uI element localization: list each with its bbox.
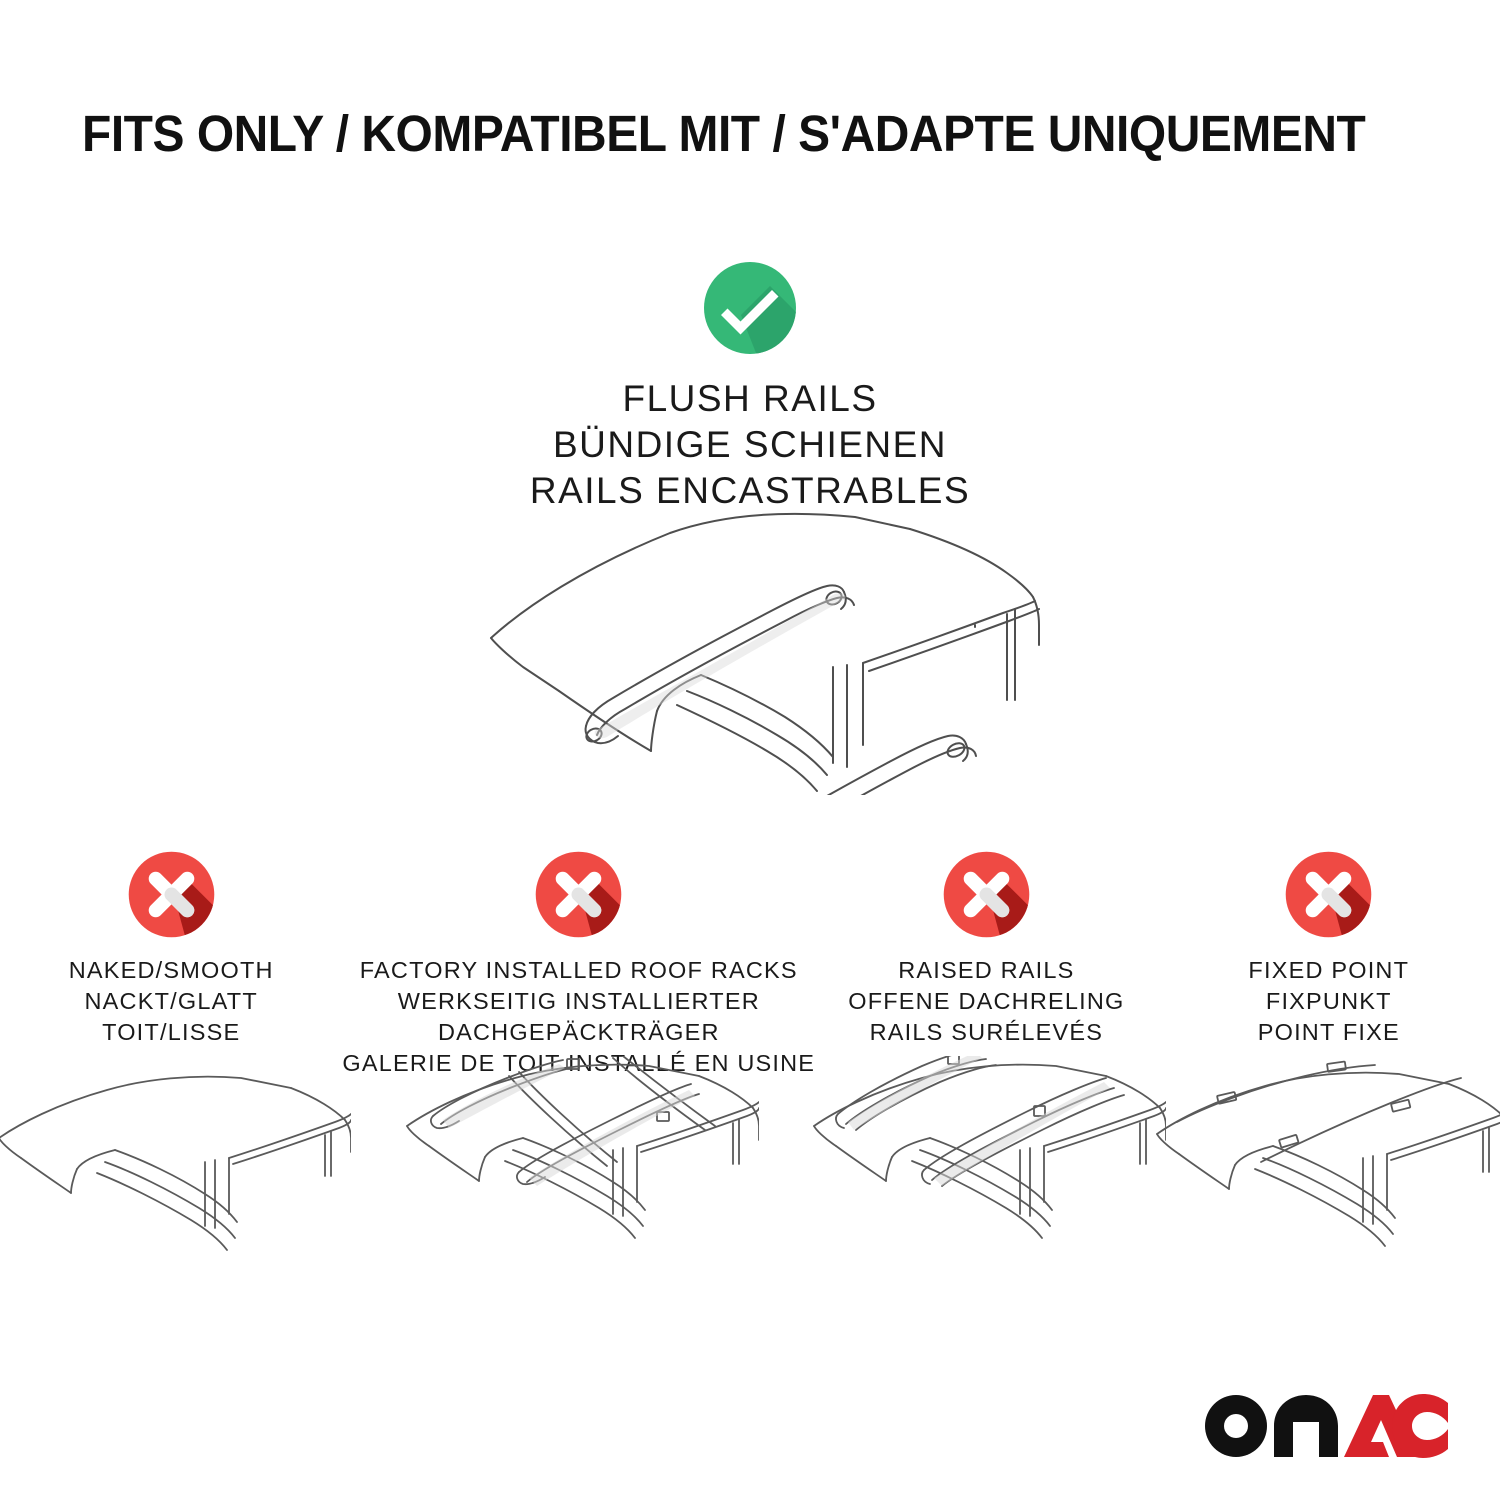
- incompatible-label-de-2: DACHGEPÄCKTRÄGER: [342, 1017, 815, 1048]
- incompatible-labels: NAKED/SMOOTH NACKT/GLATT TOIT/LISSE: [69, 955, 274, 1048]
- incompatible-item-fixed-point: FIXED POINT FIXPUNKT POINT FIXE: [1158, 848, 1500, 1318]
- cross-circle-icon: [532, 848, 625, 941]
- incompatible-item-raised-rails: RAISED RAILS OFFENE DACHRELING RAILS SUR…: [815, 848, 1157, 1318]
- compatible-section: FLUSH RAILS BÜNDIGE SCHIENEN RAILS ENCAS…: [0, 258, 1500, 514]
- incompatible-labels: FIXED POINT FIXPUNKT POINT FIXE: [1248, 955, 1409, 1048]
- incompatible-label-fr: POINT FIXE: [1248, 1017, 1409, 1048]
- incompatible-section: NAKED/SMOOTH NACKT/GLATT TOIT/LISSE: [0, 848, 1500, 1318]
- incompatible-label-de-1: WERKSEITIG INSTALLIERTER: [342, 986, 815, 1017]
- compatible-label-de: BÜNDIGE SCHIENEN: [0, 422, 1500, 468]
- car-roof-flush-rails-illustration: [455, 495, 1055, 795]
- compatible-labels: FLUSH RAILS BÜNDIGE SCHIENEN RAILS ENCAS…: [0, 376, 1500, 514]
- incompatible-label-en: RAISED RAILS: [848, 955, 1124, 986]
- car-roof-naked-illustration: [0, 1056, 351, 1306]
- omac-logo-letter-o: [1205, 1395, 1267, 1457]
- incompatible-label-en: FIXED POINT: [1248, 955, 1409, 986]
- omac-logo-letter-m: [1274, 1395, 1338, 1457]
- car-roof-factory-racks-illustration: [399, 1056, 759, 1306]
- cross-circle-icon: [940, 848, 1033, 941]
- incompatible-label-en: NAKED/SMOOTH: [69, 955, 274, 986]
- cross-circle-icon: [125, 848, 218, 941]
- incompatible-item-naked-smooth: NAKED/SMOOTH NACKT/GLATT TOIT/LISSE: [0, 848, 342, 1318]
- incompatible-label-fr: TOIT/LISSE: [69, 1017, 274, 1048]
- incompatible-label-de: FIXPUNKT: [1248, 986, 1409, 1017]
- car-roof-fixed-point-illustration: [1149, 1056, 1500, 1306]
- omac-logo: OMAC: [1203, 1382, 1448, 1460]
- incompatible-label-fr: RAILS SURÉLEVÉS: [848, 1017, 1124, 1048]
- page-title: FITS ONLY / KOMPATIBEL MIT / S'ADAPTE UN…: [82, 106, 1342, 162]
- incompatible-labels: RAISED RAILS OFFENE DACHRELING RAILS SUR…: [848, 955, 1124, 1048]
- check-circle-icon: [700, 258, 800, 358]
- compatible-label-en: FLUSH RAILS: [0, 376, 1500, 422]
- incompatible-label-de: NACKT/GLATT: [69, 986, 274, 1017]
- omac-logo-text: OMAC: [1203, 1382, 1251, 1386]
- incompatible-item-factory-racks: FACTORY INSTALLED ROOF RACKS WERKSEITIG …: [342, 848, 815, 1318]
- cross-circle-icon: [1282, 848, 1375, 941]
- incompatible-label-de: OFFENE DACHRELING: [848, 986, 1124, 1017]
- incompatible-label-en: FACTORY INSTALLED ROOF RACKS: [342, 955, 815, 986]
- car-roof-raised-rails-illustration: [806, 1056, 1166, 1306]
